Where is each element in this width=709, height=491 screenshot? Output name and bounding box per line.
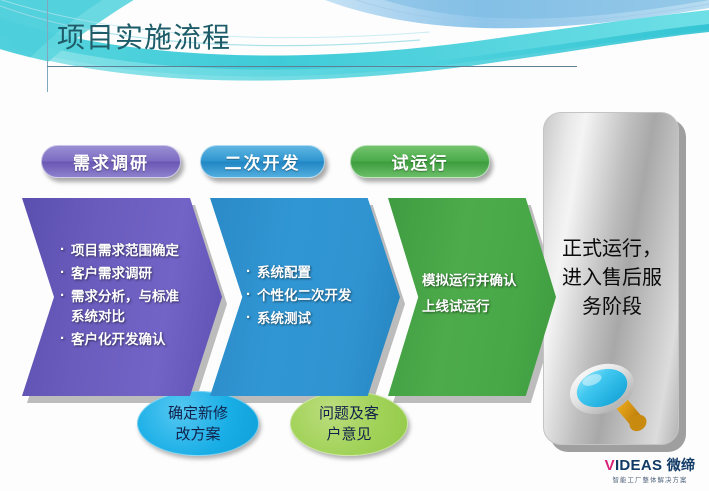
logo-tagline: 智能工厂整体解决方案	[594, 476, 706, 486]
callout-line-2: 改方案	[168, 424, 228, 445]
chevron-item-list: 项目需求范围确定 客户需求调研 需求分析，与标准系统对比 客户化开发确认	[60, 241, 192, 353]
chevron-trial-run[interactable]: 模拟运行并确认 上线试运行	[388, 198, 556, 396]
chevron-item: 上线试运行	[422, 297, 550, 317]
chevron-item: 需求分析，与标准系统对比	[60, 287, 192, 327]
phase-pill-development[interactable]: 二次开发	[200, 145, 325, 178]
slide-canvas: 项目实施流程 需求调研 二次开发 试运行 项目需求范围确定 客户需求调研 需求分…	[0, 0, 709, 491]
result-panel[interactable]: 正式运行， 进入售后服 务阶段	[543, 112, 679, 445]
phase-pill-label: 二次开发	[225, 149, 301, 174]
process-chevron-band: 项目需求范围确定 客户需求调研 需求分析，与标准系统对比 客户化开发确认 系统配…	[22, 198, 502, 396]
chevron-development[interactable]: 系统配置 个性化二次开发 系统测试	[210, 198, 400, 396]
chevron-item-list: 模拟运行并确认 上线试运行	[422, 271, 550, 323]
company-logo: VIDEAS 微缔 智能工厂整体解决方案	[594, 457, 706, 487]
result-panel-text: 正式运行， 进入售后服 务阶段	[544, 235, 679, 322]
logo-chinese-text: 微缔	[667, 457, 696, 473]
header-wave-decoration	[0, 0, 709, 120]
chevron-item: 个性化二次开发	[246, 286, 374, 306]
chevron-item: 系统测试	[246, 309, 374, 329]
result-panel-line-2: 进入售后服	[544, 264, 679, 293]
page-title: 项目实施流程	[57, 21, 231, 55]
magnifier-icon	[558, 359, 666, 441]
callout-line-1: 问题及客	[319, 403, 379, 424]
chevron-item: 客户化开发确认	[60, 330, 192, 350]
phase-pill-requirements[interactable]: 需求调研	[41, 145, 181, 178]
chevron-body: 模拟运行并确认 上线试运行	[388, 198, 556, 396]
chevron-body: 系统配置 个性化二次开发 系统测试	[210, 198, 400, 396]
logo-wordmark: VIDEAS 微缔	[594, 457, 706, 474]
result-panel-line-3: 务阶段	[544, 293, 679, 322]
chevron-item: 客户需求调研	[60, 264, 192, 284]
phase-pill-label: 需求调研	[73, 149, 149, 174]
phase-pill-label: 试运行	[392, 149, 449, 174]
chevron-item: 项目需求范围确定	[60, 241, 192, 261]
chevron-requirements[interactable]: 项目需求范围确定 客户需求调研 需求分析，与标准系统对比 客户化开发确认	[22, 198, 222, 396]
chevron-item: 系统配置	[246, 263, 374, 283]
chevron-item-list: 系统配置 个性化二次开发 系统测试	[246, 263, 374, 332]
callout-customer-feedback[interactable]: 问题及客 户意见	[290, 391, 408, 456]
callout-line-2: 户意见	[319, 424, 379, 445]
callout-text: 问题及客 户意见	[319, 403, 379, 445]
title-vertical-rule	[47, 0, 48, 92]
callout-revision-plan[interactable]: 确定新修 改方案	[137, 391, 259, 456]
callout-text: 确定新修 改方案	[168, 403, 228, 445]
phase-pill-trial-run[interactable]: 试运行	[350, 145, 490, 178]
result-panel-line-1: 正式运行，	[544, 235, 679, 264]
callout-line-1: 确定新修	[168, 403, 228, 424]
chevron-item: 模拟运行并确认	[422, 271, 550, 291]
chevron-body: 项目需求范围确定 客户需求调研 需求分析，与标准系统对比 客户化开发确认	[22, 198, 222, 396]
title-horizontal-rule	[47, 66, 577, 67]
logo-v-mark: V	[605, 457, 615, 474]
logo-ideas-text: IDEAS	[615, 457, 662, 474]
